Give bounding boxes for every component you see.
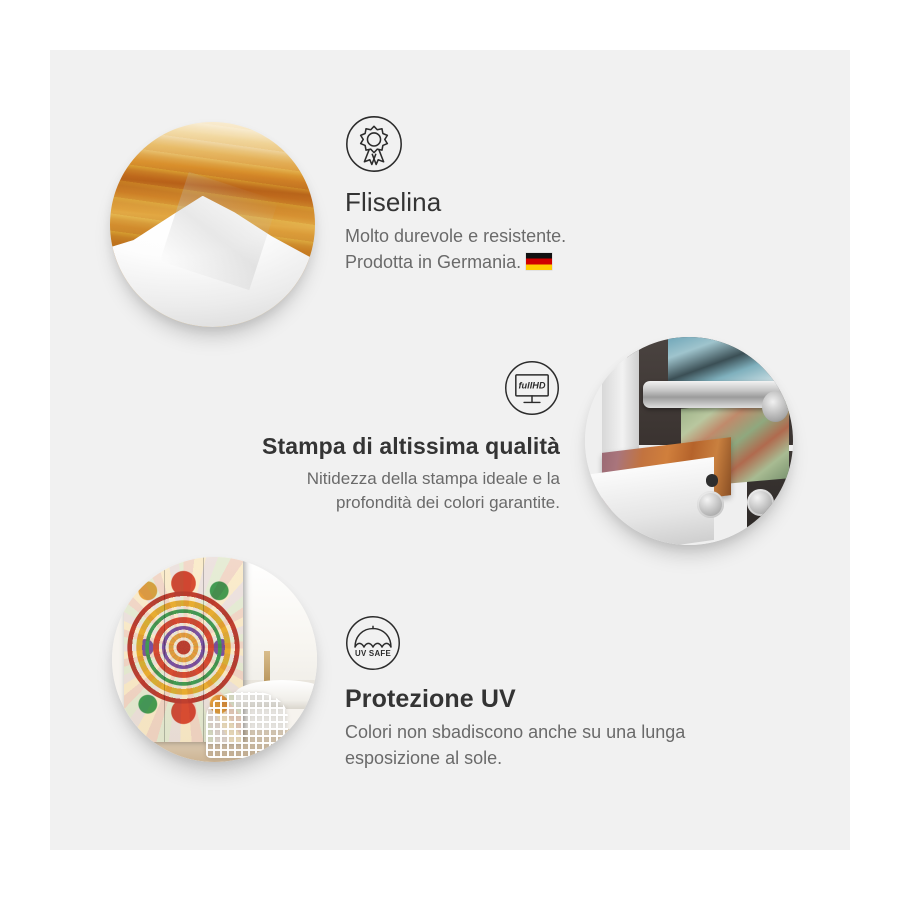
room-image (112, 557, 317, 762)
wire-chair (206, 692, 288, 758)
feature-stampa: fullHD Stampa di altissima qualità Nitid… (140, 360, 560, 515)
feature-body: Nitidezza della stampa ideale e la profo… (140, 467, 560, 515)
infographic-root: Fliselina Molto durevole e resistente. P… (0, 0, 900, 900)
feature-body-line1: Colori non sbadiscono anche su una lunga (345, 722, 685, 742)
printing-machine-photo (585, 337, 793, 545)
fullhd-monitor-icon: fullHD (140, 360, 560, 421)
wallpaper-seam (164, 557, 165, 742)
wallpaper-seam (203, 557, 204, 742)
mandala-wallpaper-room-photo (112, 557, 317, 762)
feature-body-line2: Prodotta in Germania. (345, 252, 521, 272)
feature-body: Colori non sbadiscono anche su una lunga… (345, 720, 785, 771)
svg-text:fullHD: fullHD (518, 381, 545, 391)
uv-safe-umbrella-icon: UV SAFE (345, 615, 785, 671)
feature-body-line1: Nitidezza della stampa ideale e la (307, 469, 560, 488)
printer-image (585, 337, 793, 545)
printer-roller-end-cap (762, 391, 789, 422)
peeling-wallpaper-photo (110, 122, 315, 327)
printer-knob (706, 474, 718, 486)
award-rosette-icon (345, 115, 775, 173)
printer-wheel (697, 491, 724, 518)
feature-body-line2: profondità dei colori garantite. (336, 493, 560, 512)
german-flag-icon (526, 253, 552, 270)
printed-sheet-top (668, 337, 793, 387)
candle-holder (264, 651, 270, 682)
feature-fliselina: Fliselina Molto durevole e resistente. P… (345, 115, 775, 275)
feature-protezione-uv: UV SAFE Protezione UV Colori non sbadisc… (345, 615, 785, 771)
feature-body-line1: Molto durevole e resistente. (345, 226, 566, 246)
feature-body-line2: esposizione al sole. (345, 748, 502, 768)
wallpaper-image (110, 122, 315, 327)
printer-wheel (747, 489, 774, 516)
feature-title: Protezione UV (345, 685, 785, 714)
feature-title: Fliselina (345, 187, 775, 218)
feature-title: Stampa di altissima qualità (140, 433, 560, 460)
svg-text:UV SAFE: UV SAFE (355, 649, 391, 658)
feature-body: Molto durevole e resistente. Prodotta in… (345, 224, 775, 275)
